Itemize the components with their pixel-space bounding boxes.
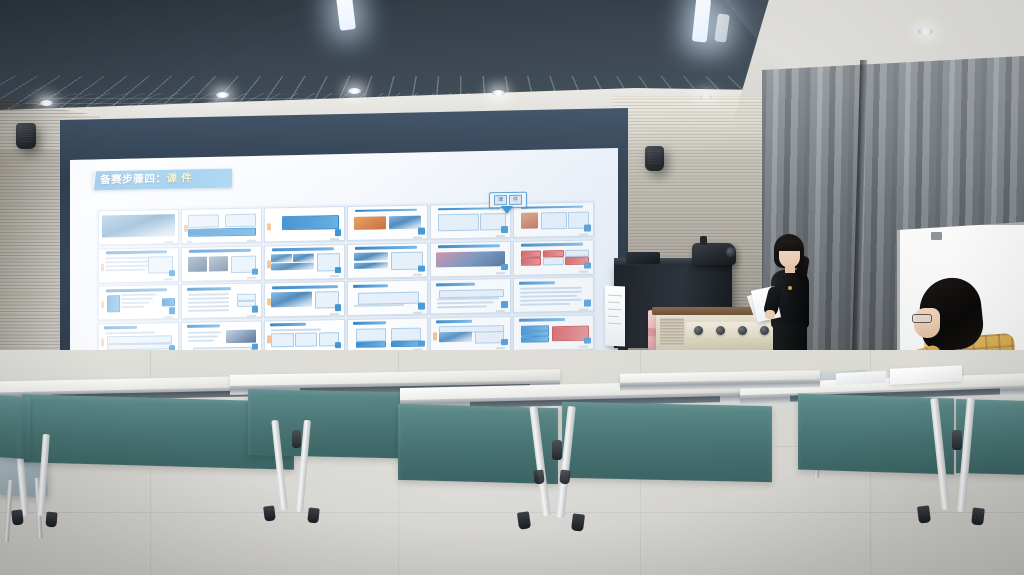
podium-knob-3[interactable]: [738, 326, 747, 335]
table-leg-joint: [952, 430, 962, 450]
slide-thumbnail[interactable]: [181, 283, 262, 320]
slide-grid: [98, 201, 594, 358]
table-modesty-panel: [0, 395, 30, 460]
wall-speaker-right: [645, 146, 664, 171]
ceiling-tube-light-1: [336, 0, 356, 31]
slide-thumbnail[interactable]: [264, 244, 345, 281]
table-foot: [45, 512, 57, 528]
table-foot: [571, 513, 585, 531]
downlight-1: [40, 100, 53, 106]
table-leg-joint: [292, 430, 301, 448]
slide-thumbnail[interactable]: [347, 280, 428, 317]
observer-face: [914, 308, 940, 338]
av-device: [626, 252, 660, 264]
slide-thumbnail[interactable]: [98, 209, 179, 246]
slide-thumbnail[interactable]: [513, 239, 594, 276]
slide-thumbnail[interactable]: [98, 284, 179, 321]
presenter-person: [764, 234, 820, 354]
slide-thumbnail[interactable]: [430, 316, 511, 353]
presenter-neck: [785, 265, 795, 273]
slide-thumbnail[interactable]: [181, 208, 262, 245]
slide-thumbnail[interactable]: [347, 317, 428, 354]
presenter-fringe: [777, 240, 802, 251]
table-foot: [533, 470, 544, 485]
slide-thumbnail[interactable]: [264, 206, 345, 243]
table-foot: [917, 505, 931, 523]
slide-title-suffix: 课 件: [167, 172, 193, 184]
slide-thumbnail[interactable]: [181, 245, 262, 282]
callout-char-2: 件: [509, 195, 522, 205]
camera-microphone: [700, 236, 707, 245]
slide-thumbnail[interactable]: [513, 314, 594, 351]
callout-down-arrow-icon: [501, 206, 513, 214]
podium-knob-2[interactable]: [716, 326, 725, 335]
table-foot: [559, 470, 570, 485]
table-foot: [971, 507, 985, 525]
lecture-room-photo: 备赛步骤四：课 件: [0, 0, 1024, 575]
slide-thumbnail[interactable]: [430, 241, 511, 278]
slide-thumbnail-panel: [96, 199, 596, 360]
observer-glasses-icon: [912, 314, 932, 323]
downlight-2: [216, 92, 229, 98]
downlight-6: [918, 28, 933, 35]
presenter-badge: [788, 286, 792, 290]
podium-speaker-grille: [660, 318, 684, 346]
slide-title-text: 备赛步骤四：课 件: [100, 171, 228, 188]
table-foot: [11, 509, 24, 525]
downlight-4: [492, 90, 505, 96]
slide-thumbnail[interactable]: [98, 247, 179, 284]
table-foot: [517, 511, 531, 530]
podium-knob-1[interactable]: [694, 326, 703, 335]
table-leg-joint: [552, 440, 562, 460]
table-foot: [307, 507, 320, 523]
downlight-3: [348, 88, 361, 94]
slide-title-prefix: 备赛步骤四：: [100, 173, 167, 186]
slide-thumbnail[interactable]: [513, 277, 594, 314]
paper-stack: [605, 285, 625, 346]
camera-lens-icon: [726, 247, 736, 258]
presenter-hand: [765, 310, 775, 319]
wall-speaker-left: [16, 123, 36, 149]
whiteboard-clip: [931, 232, 942, 240]
slide-thumbnail[interactable]: [347, 204, 428, 241]
table-foot: [263, 505, 276, 521]
callout-char-1: 课: [494, 195, 507, 205]
slide-thumbnail[interactable]: [430, 278, 511, 315]
slide-thumbnail[interactable]: [430, 203, 511, 240]
slide-thumbnail[interactable]: [347, 242, 428, 279]
table-modesty-panel: [562, 402, 772, 482]
slide-thumbnail[interactable]: [264, 281, 345, 318]
